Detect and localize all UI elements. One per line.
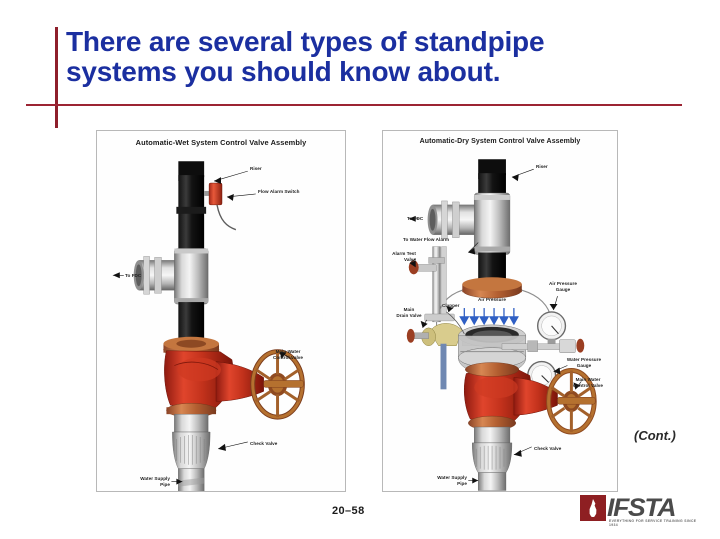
label-line-1: Water Pressure bbox=[567, 357, 601, 362]
label-main-water-control-valve-dry: Main Water Control Valve bbox=[565, 377, 611, 388]
label-main-drain-valve: Main Drain Valve bbox=[391, 307, 427, 318]
continued-marker: (Cont.) bbox=[634, 428, 676, 443]
label-check-valve-dry: Check Valve bbox=[534, 446, 561, 452]
label-line-1: Main bbox=[404, 307, 415, 312]
title-vertical-rule bbox=[55, 27, 58, 128]
label-line-2: Pipe bbox=[160, 482, 170, 487]
label-line-1: Water Supply bbox=[437, 475, 467, 480]
label-to-fdc-wet: To FDC bbox=[125, 273, 141, 279]
label-line-2: Control Valve bbox=[573, 383, 603, 388]
label-flow-alarm-switch: Flow Alarm Switch bbox=[258, 189, 300, 195]
label-alarm-test-valve: Alarm Test Valve bbox=[385, 251, 416, 262]
label-line-1: Main Water bbox=[276, 349, 301, 354]
label-line-2: Drain Valve bbox=[396, 313, 421, 318]
logo-tagline: EVERYTHING FOR SERVICE TRAINING SINCE 19… bbox=[609, 519, 702, 527]
ifsta-logo: IFSTA EVERYTHING FOR SERVICE TRAINING SI… bbox=[580, 494, 702, 528]
title-line-1: There are several types of standpipe bbox=[66, 26, 544, 57]
label-water-pressure-gauge: Water Pressure Gauge bbox=[559, 357, 609, 368]
label-line-2: Pipe bbox=[457, 481, 467, 486]
wet-system-illustration bbox=[97, 131, 345, 491]
label-line-2: Control Valve bbox=[273, 355, 303, 360]
label-riser-wet: Riser bbox=[250, 166, 262, 172]
page-title: There are several types of standpipe sys… bbox=[66, 27, 696, 87]
diagram-panel-dry: Automatic-Dry System Control Valve Assem… bbox=[382, 130, 618, 492]
label-to-fdc-dry: To FDC bbox=[407, 216, 423, 222]
label-line-1: Alarm Test bbox=[392, 251, 416, 256]
label-to-water-flow-alarm: To Water Flow Alarm bbox=[403, 237, 449, 243]
label-line-2: Valve bbox=[404, 257, 416, 262]
label-line-2: Gauge bbox=[556, 287, 571, 292]
label-check-valve-wet: Check Valve bbox=[250, 441, 277, 447]
label-water-supply-pipe-dry: Water Supply Pipe bbox=[413, 475, 467, 486]
slide-canvas: There are several types of standpipe sys… bbox=[0, 0, 720, 539]
page-number: 20–58 bbox=[332, 505, 365, 517]
label-air-pressure: Air Pressure bbox=[468, 297, 516, 303]
title-horizontal-rule bbox=[26, 104, 682, 106]
diagram-panel-wet: Automatic-Wet System Control Valve Assem… bbox=[96, 130, 346, 492]
label-line-1: Water Supply bbox=[140, 476, 170, 481]
label-main-water-control-valve-wet: Main Water Control Valve bbox=[273, 349, 303, 360]
label-water-supply-pipe-wet: Water Supply Pipe bbox=[115, 476, 170, 487]
label-line-1: Air Pressure bbox=[549, 281, 577, 286]
label-clapper: Clapper bbox=[442, 303, 459, 309]
label-line-1: Main Water bbox=[576, 377, 601, 382]
label-line-2: Gauge bbox=[577, 363, 592, 368]
label-riser-dry: Riser bbox=[536, 164, 548, 170]
title-line-2: systems you should know about. bbox=[66, 57, 696, 87]
label-air-pressure-gauge: Air Pressure Gauge bbox=[543, 281, 583, 292]
